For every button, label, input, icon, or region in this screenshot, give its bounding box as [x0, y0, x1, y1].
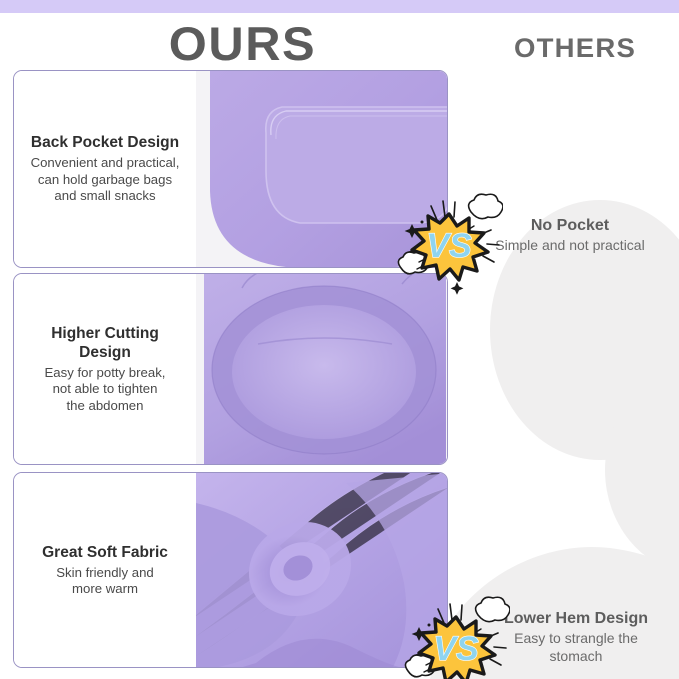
ours-text-block-1: Back Pocket Design Convenient and practi…	[14, 71, 196, 267]
ours-image-2	[196, 274, 447, 464]
comparison-row-1: Back Pocket Design Convenient and practi…	[0, 70, 679, 268]
page-title-others: OTHERS	[493, 33, 656, 63]
ours-text-block-3: Great Soft Fabric Skin friendly and more…	[14, 473, 196, 667]
vs-label: VS	[426, 227, 472, 265]
top-accent-bar	[0, 0, 679, 13]
ours-panel-3: Great Soft Fabric Skin friendly and more…	[13, 472, 448, 668]
ours-desc-3: Skin friendly and more warm	[56, 565, 154, 598]
ours-panel-1: Back Pocket Design Convenient and practi…	[13, 70, 448, 268]
page-title-ours: OURS	[157, 18, 329, 70]
ours-title-2: Higher Cutting Design	[51, 324, 159, 362]
infographic-canvas: OURS OTHERS Back Pocket Design Convenien…	[0, 0, 679, 679]
ours-desc-1: Convenient and practical, can hold garba…	[31, 155, 180, 205]
vs-badge-2: VS	[402, 593, 510, 679]
comparison-row-2: Higher Cutting Design Easy for potty bre…	[0, 273, 679, 465]
ours-text-block-2: Higher Cutting Design Easy for potty bre…	[14, 274, 196, 464]
vs-label: VS	[433, 630, 479, 668]
ours-title-1: Back Pocket Design	[31, 133, 179, 152]
ours-panel-2: Higher Cutting Design Easy for potty bre…	[13, 273, 448, 465]
ours-desc-2: Easy for potty break, not able to tighte…	[45, 365, 166, 415]
ours-title-3: Great Soft Fabric	[42, 543, 168, 562]
vs-badge-1: VS	[395, 190, 503, 298]
